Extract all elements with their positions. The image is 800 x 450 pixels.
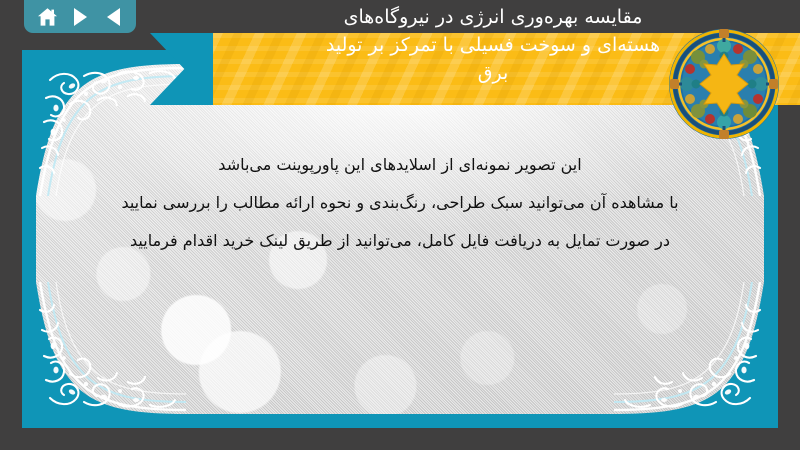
triangle-left-icon [107, 8, 120, 26]
content-area: این تصویر نمونه‌ای از اسلایدهای این پاور… [36, 64, 764, 414]
title-line-1: مقایسه بهره‌وری انرژی در نیروگاه‌های [344, 3, 643, 31]
body-line-2: با مشاهده آن می‌توانید سبک طراحی، رنگ‌بن… [76, 184, 724, 222]
arabesque-corner-ornament-bottom-left [36, 282, 186, 414]
presentation-slide: مقایسه بهره‌وری انرژی در نیروگاه‌های هست… [0, 0, 800, 450]
previous-slide-button[interactable] [102, 6, 124, 28]
slide-navigation-bar [24, 0, 136, 33]
body-line-3: در صورت تمایل به دریافت فایل کامل، می‌تو… [76, 222, 724, 260]
home-button[interactable] [36, 6, 58, 28]
home-icon [37, 7, 58, 27]
arabesque-corner-ornament-bottom-right [614, 282, 764, 414]
triangle-right-icon [74, 8, 87, 26]
title-banner [213, 33, 800, 105]
body-line-1: این تصویر نمونه‌ای از اسلایدهای این پاور… [76, 146, 724, 184]
content-frame: این تصویر نمونه‌ای از اسلایدهای این پاور… [22, 50, 778, 428]
next-slide-button[interactable] [69, 6, 91, 28]
slide-body-text: این تصویر نمونه‌ای از اسلایدهای این پاور… [36, 146, 764, 260]
